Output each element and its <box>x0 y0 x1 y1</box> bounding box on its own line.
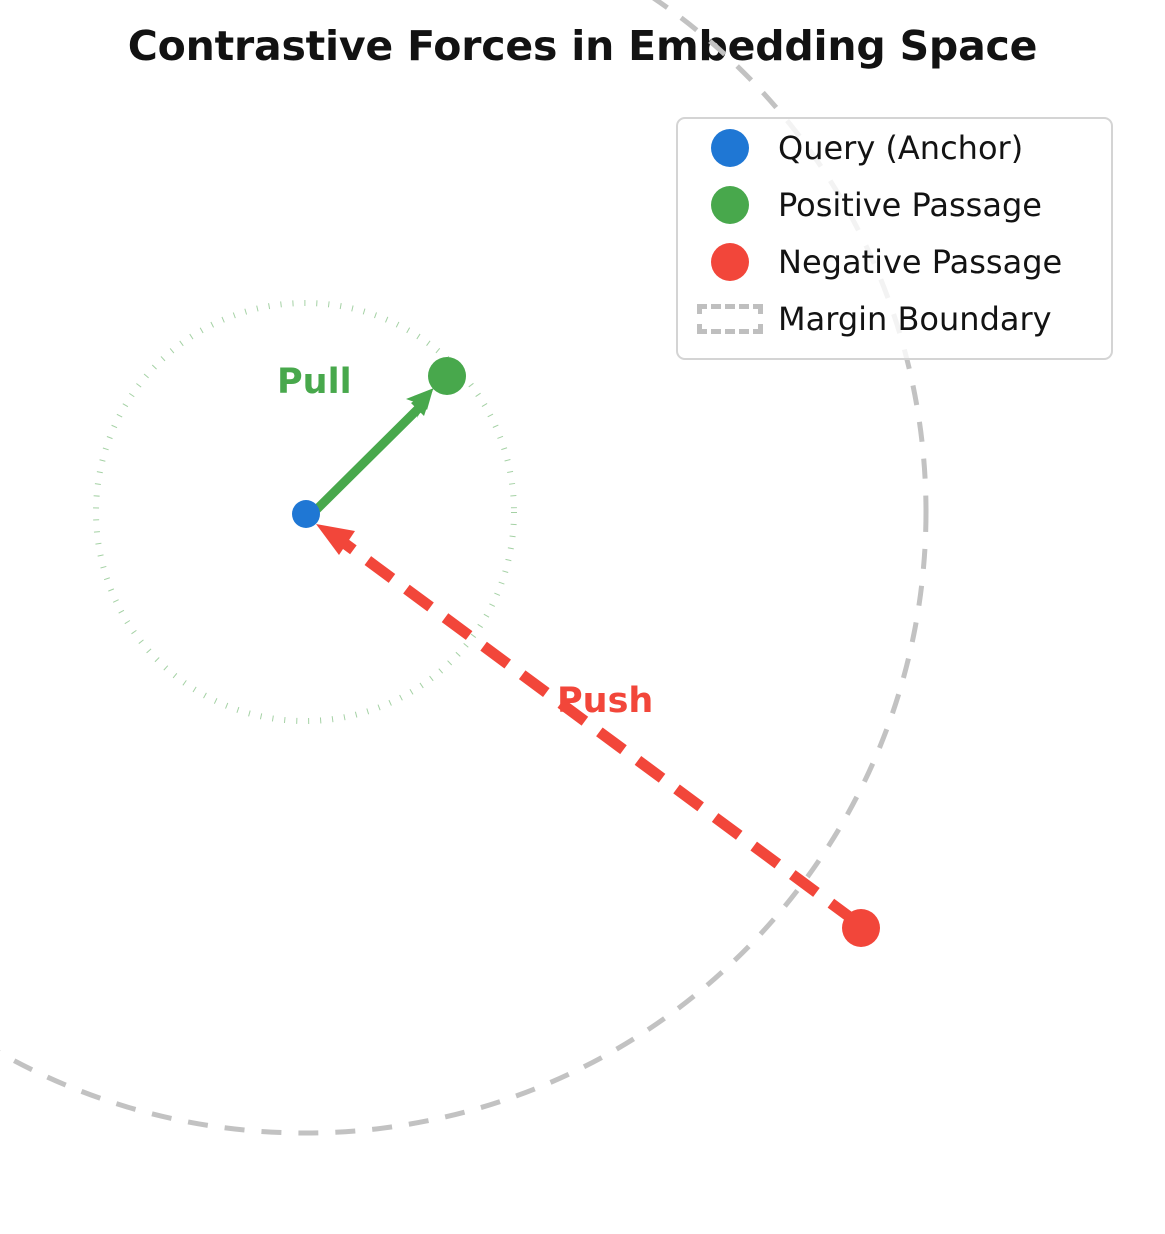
legend-label-margin-boundary: Margin Boundary <box>766 303 1052 335</box>
pull-arrow <box>309 388 434 517</box>
legend-label-positive: Positive Passage <box>766 189 1042 221</box>
blue-circle-icon <box>711 129 749 167</box>
legend-marker-negative <box>694 243 766 281</box>
negative-passage-point[interactable] <box>842 909 880 947</box>
contrastive-forces-figure: Contrastive Forces in Embedding Space Pu… <box>0 0 1165 1234</box>
legend-marker-margin-boundary <box>694 304 766 334</box>
green-circle-icon <box>711 186 749 224</box>
legend-marker-query <box>694 129 766 167</box>
red-circle-icon <box>711 243 749 281</box>
query-anchor-point[interactable] <box>292 500 320 528</box>
legend-item-margin-boundary[interactable]: Margin Boundary <box>678 290 1111 347</box>
dashed-rect-icon <box>697 304 763 334</box>
pull-label: Pull <box>277 365 352 400</box>
legend: Query (Anchor) Positive Passage Negative… <box>676 117 1113 360</box>
legend-label-query: Query (Anchor) <box>766 132 1023 164</box>
legend-label-negative: Negative Passage <box>766 246 1062 278</box>
legend-item-positive[interactable]: Positive Passage <box>678 176 1111 233</box>
legend-item-query[interactable]: Query (Anchor) <box>678 119 1111 176</box>
legend-item-negative[interactable]: Negative Passage <box>678 233 1111 290</box>
push-arrow <box>316 524 855 921</box>
legend-marker-positive <box>694 186 766 224</box>
positive-passage-point[interactable] <box>428 357 466 395</box>
push-label: Push <box>557 684 653 719</box>
